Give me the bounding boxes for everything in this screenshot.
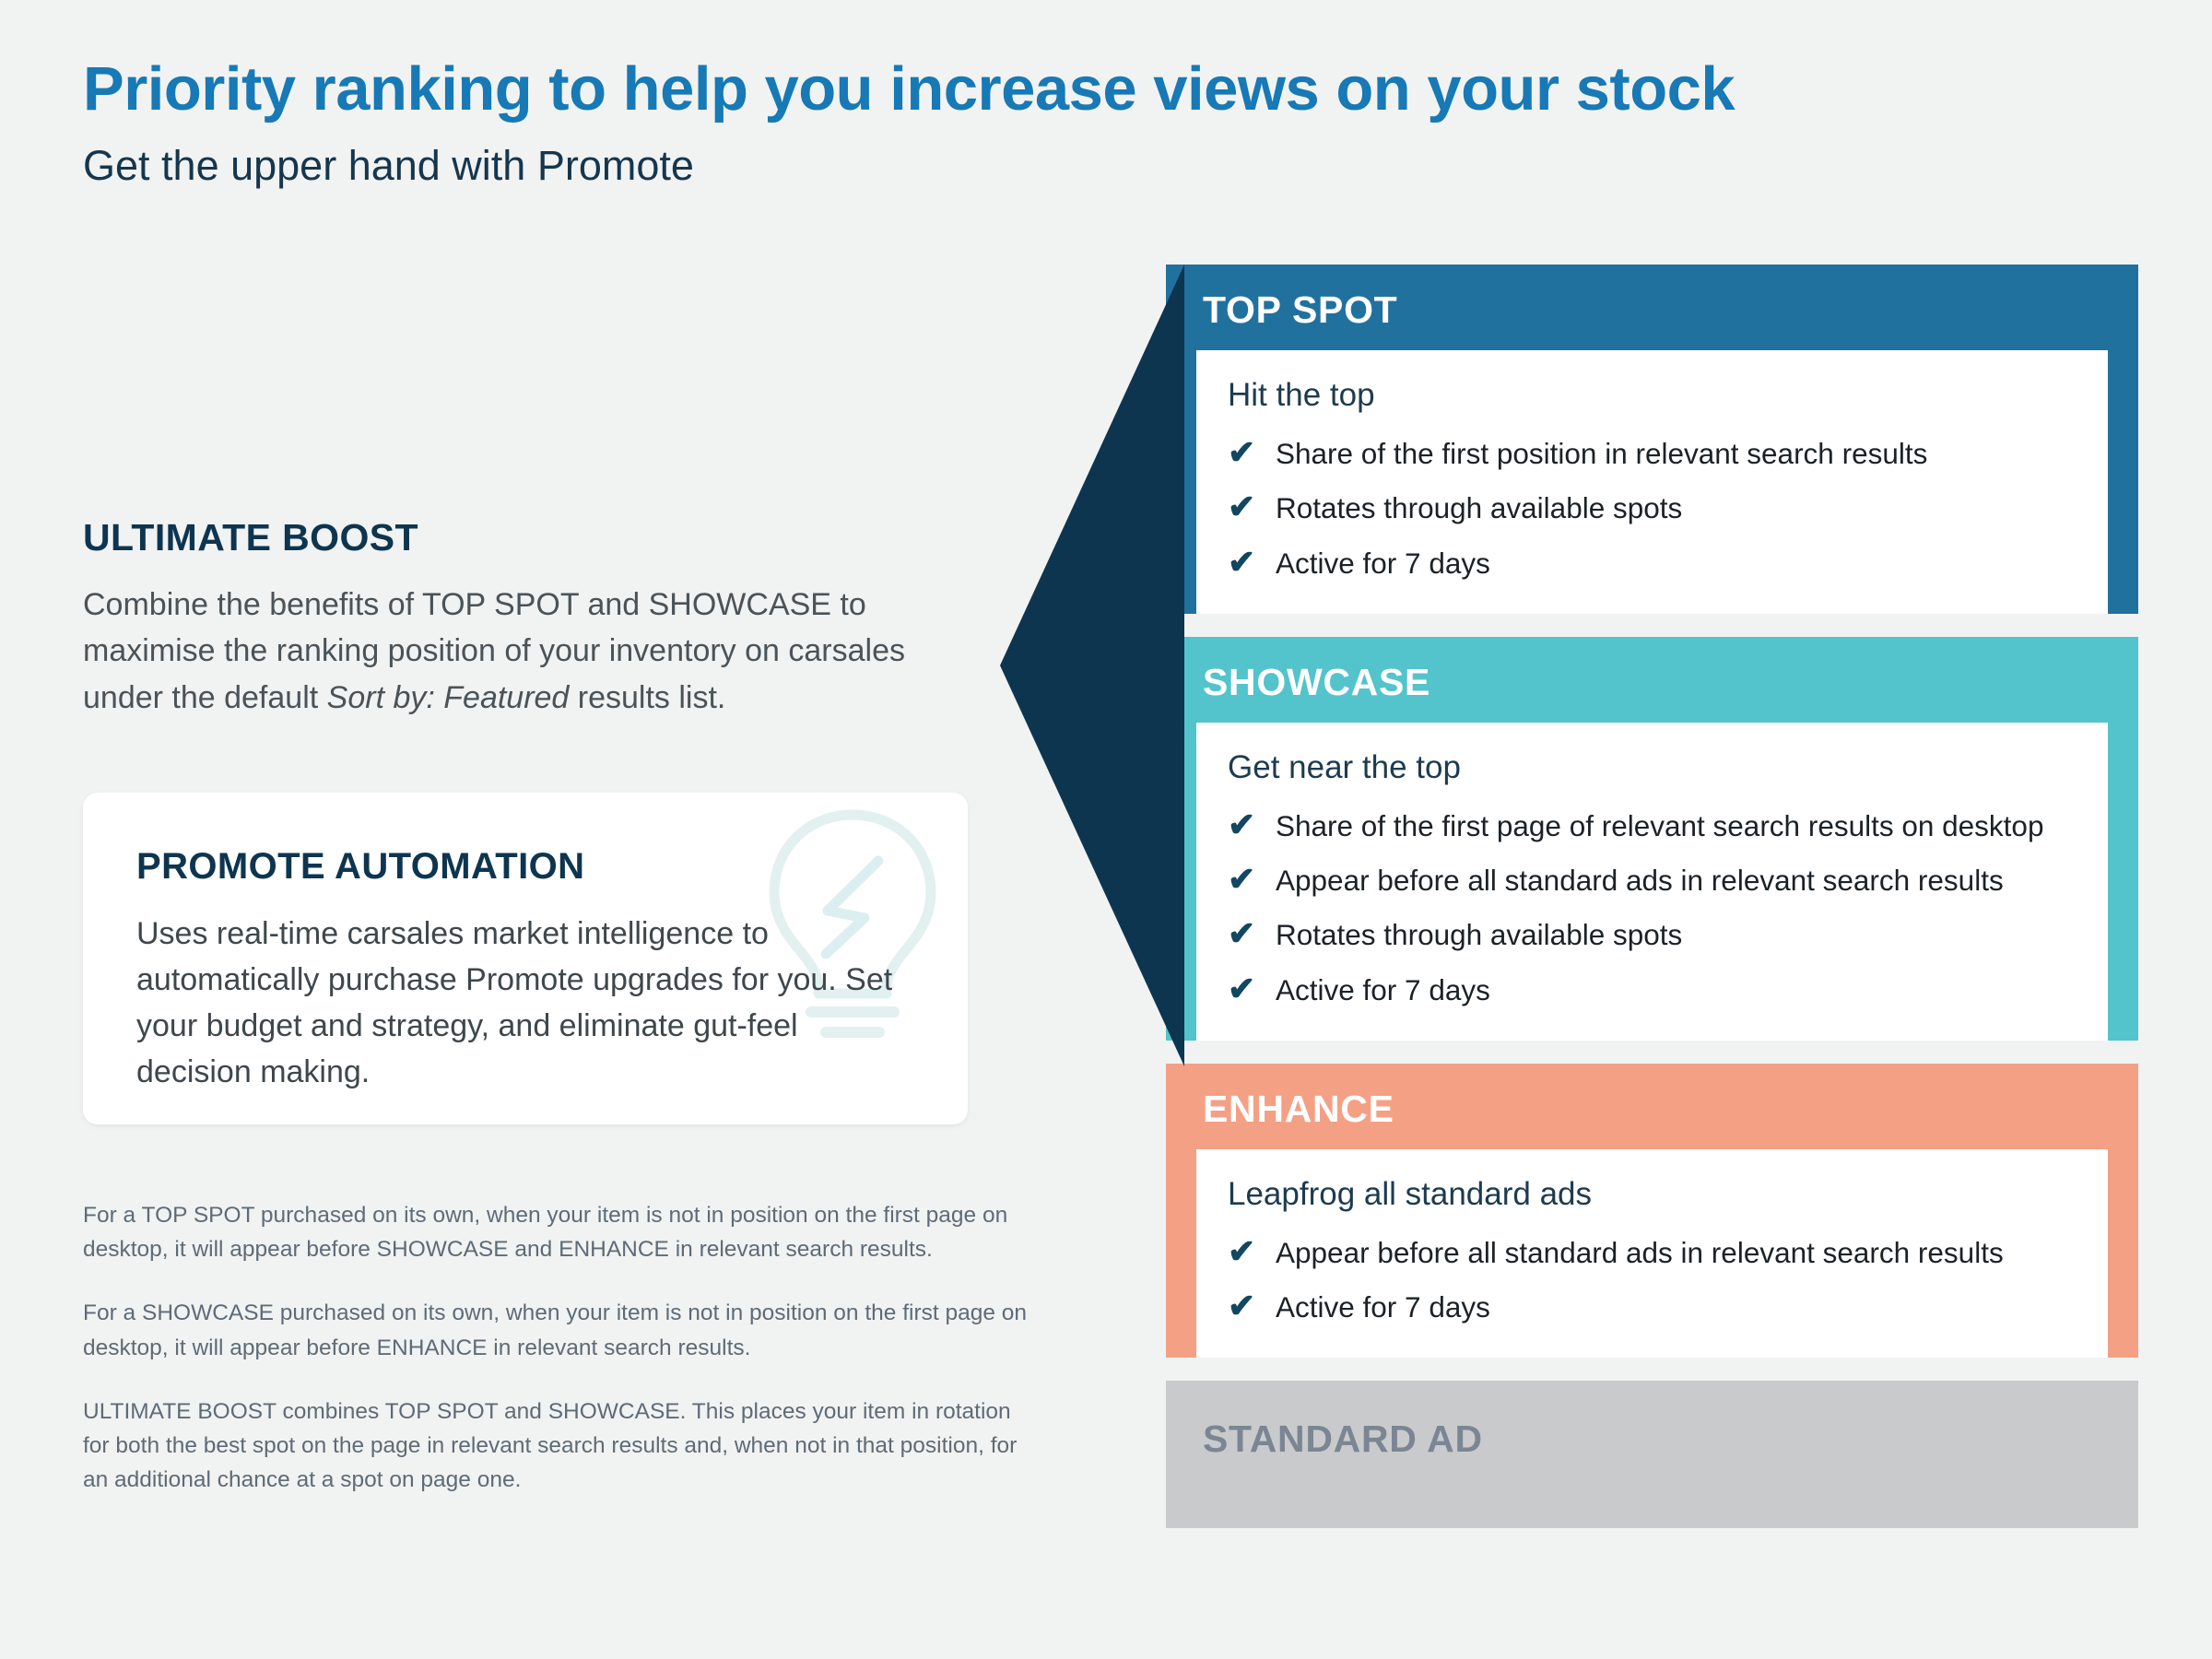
feature-item: ✔ Rotates through available spots (1228, 909, 2077, 958)
feature-item: ✔ Share of the first page of relevant se… (1228, 800, 2077, 849)
tier-enhance[interactable]: ENHANCE Leapfrog all standard ads ✔ Appe… (1166, 1064, 2138, 1359)
feature-item: ✔ Appear before all standard ads in rele… (1228, 1227, 2077, 1276)
promote-automation-card: PROMOTE AUTOMATION Uses real-time carsal… (83, 793, 968, 1124)
promote-automation-description: Uses real-time carsales market intellige… (136, 912, 901, 1096)
page-subtitle: Get the upper hand with Promote (83, 142, 2138, 190)
feature-item: ✔ Appear before all standard ads in rele… (1228, 854, 2077, 903)
feature-text: Active for 7 days (1276, 542, 1490, 585)
check-icon: ✔ (1228, 909, 1276, 958)
feature-item: ✔ Active for 7 days (1228, 537, 2077, 586)
feature-text: Rotates through available spots (1276, 487, 1682, 530)
feature-text: Rotates through available spots (1276, 913, 1682, 957)
tier-top-spot-body: Hit the top ✔ Share of the first positio… (1196, 350, 2108, 614)
check-icon: ✔ (1228, 854, 1276, 903)
footnote-top-spot: For a TOP SPOT purchased on its own, whe… (83, 1198, 1037, 1266)
check-icon: ✔ (1228, 482, 1276, 531)
promote-automation-title: PROMOTE AUTOMATION (136, 846, 968, 888)
tier-showcase-body: Get near the top ✔ Share of the first pa… (1196, 723, 2108, 1041)
check-icon: ✔ (1228, 964, 1276, 1013)
footnotes-section: For a TOP SPOT purchased on its own, whe… (83, 1198, 1037, 1498)
ultimate-boost-section: ULTIMATE BOOST Combine the benefits of T… (83, 516, 1005, 721)
feature-text: Active for 7 days (1276, 969, 1490, 1012)
ultimate-boost-description: Combine the benefits of TOP SPOT and SHO… (83, 582, 982, 721)
tier-enhance-label: ENHANCE (1166, 1064, 2138, 1149)
ultimate-boost-desc-part2: results list. (569, 680, 725, 715)
check-icon: ✔ (1228, 800, 1276, 849)
ultimate-boost-arrow (1000, 265, 1184, 1066)
feature-text: Share of the first page of relevant sear… (1276, 805, 2043, 848)
tier-top-spot-label: TOP SPOT (1166, 265, 2138, 350)
tier-enhance-feature-list: ✔ Appear before all standard ads in rele… (1228, 1227, 2077, 1331)
tier-top-spot-body-title: Hit the top (1228, 376, 2077, 415)
check-icon: ✔ (1228, 1281, 1276, 1330)
tier-standard-ad: STANDARD AD (1166, 1381, 2138, 1528)
feature-item: ✔ Active for 7 days (1228, 964, 2077, 1013)
priority-ranking-stack: TOP SPOT Hit the top ✔ Share of the firs… (1166, 265, 2138, 1528)
ultimate-boost-title: ULTIMATE BOOST (83, 516, 1005, 559)
feature-text: Appear before all standard ads in releva… (1276, 1231, 2004, 1275)
tier-enhance-body-title: Leapfrog all standard ads (1228, 1175, 2077, 1214)
check-icon: ✔ (1228, 1227, 1276, 1276)
tier-enhance-body: Leapfrog all standard ads ✔ Appear befor… (1196, 1149, 2108, 1359)
page-title: Priority ranking to help you increase vi… (83, 55, 2138, 124)
feature-item: ✔ Share of the first position in relevan… (1228, 428, 2077, 477)
tier-showcase[interactable]: SHOWCASE Get near the top ✔ Share of the… (1166, 637, 2138, 1041)
feature-text: Active for 7 days (1276, 1286, 1490, 1329)
check-icon: ✔ (1228, 428, 1276, 477)
feature-text: Appear before all standard ads in releva… (1276, 859, 2004, 902)
ultimate-boost-desc-emphasis: Sort by: Featured (327, 680, 570, 715)
page-header: Priority ranking to help you increase vi… (83, 55, 2138, 189)
feature-item: ✔ Active for 7 days (1228, 1281, 2077, 1330)
tier-showcase-feature-list: ✔ Share of the first page of relevant se… (1228, 800, 2077, 1013)
tier-showcase-label: SHOWCASE (1166, 637, 2138, 723)
feature-text: Share of the first position in relevant … (1276, 432, 1927, 476)
check-icon: ✔ (1228, 537, 1276, 586)
feature-item: ✔ Rotates through available spots (1228, 482, 2077, 531)
footnote-ultimate-boost: ULTIMATE BOOST combines TOP SPOT and SHO… (83, 1394, 1037, 1498)
footnote-showcase: For a SHOWCASE purchased on its own, whe… (83, 1296, 1037, 1364)
tier-standard-ad-label: STANDARD AD (1166, 1381, 2138, 1479)
tier-showcase-body-title: Get near the top (1228, 748, 2077, 787)
tier-top-spot-feature-list: ✔ Share of the first position in relevan… (1228, 428, 2077, 586)
tier-top-spot[interactable]: TOP SPOT Hit the top ✔ Share of the firs… (1166, 265, 2138, 614)
